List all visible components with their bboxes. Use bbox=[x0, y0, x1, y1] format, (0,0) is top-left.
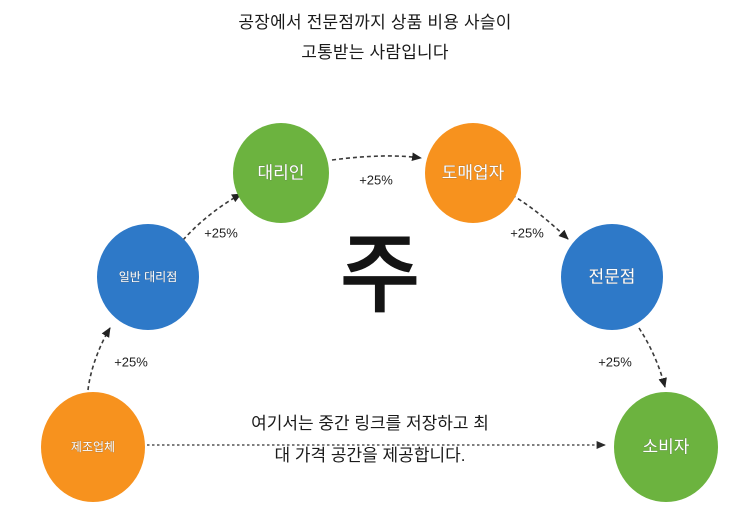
edge-manufacturer-to-agency bbox=[88, 328, 110, 390]
edge-label-specialty-to-consumer: +25% bbox=[598, 355, 632, 370]
caption-line-2: 대 가격 공간을 제공합니다. bbox=[165, 440, 575, 472]
edge-specialty-to-consumer bbox=[639, 328, 665, 387]
node-agent-label: 대리인 bbox=[258, 164, 305, 183]
caption-line-1: 여기서는 중간 링크를 저장하고 최 bbox=[165, 408, 575, 440]
node-specialty-label: 전문점 bbox=[589, 268, 636, 287]
node-agency-label: 일반 대리점 bbox=[119, 270, 178, 284]
diagram-caption: 여기서는 중간 링크를 저장하고 최 대 가격 공간을 제공합니다. bbox=[165, 408, 575, 472]
node-agent[interactable]: 대리인 bbox=[233, 123, 329, 223]
edge-label-agent-to-wholesaler: +25% bbox=[359, 173, 393, 188]
edge-label-wholesaler-to-specialty: +25% bbox=[510, 226, 544, 241]
node-consumer-label: 소비자 bbox=[643, 438, 690, 457]
center-glyph: 주 bbox=[300, 232, 460, 318]
node-wholesaler-label: 도매업자 bbox=[442, 164, 505, 183]
node-manufacturer[interactable]: 제조업체 bbox=[41, 392, 145, 502]
node-consumer[interactable]: 소비자 bbox=[614, 392, 718, 502]
node-manufacturer-label: 제조업체 bbox=[71, 440, 115, 454]
node-agency[interactable]: 일반 대리점 bbox=[97, 224, 199, 330]
edge-label-agency-to-agent: +25% bbox=[204, 226, 238, 241]
edge-label-manufacturer-to-agency: +25% bbox=[114, 355, 148, 370]
node-specialty[interactable]: 전문점 bbox=[561, 224, 663, 330]
diagram-canvas: 공장에서 전문점까지 상품 비용 사슬이 고통받는 사람입니다 bbox=[0, 0, 750, 505]
edge-agent-to-wholesaler bbox=[332, 156, 421, 160]
node-wholesaler[interactable]: 도매업자 bbox=[425, 123, 521, 223]
